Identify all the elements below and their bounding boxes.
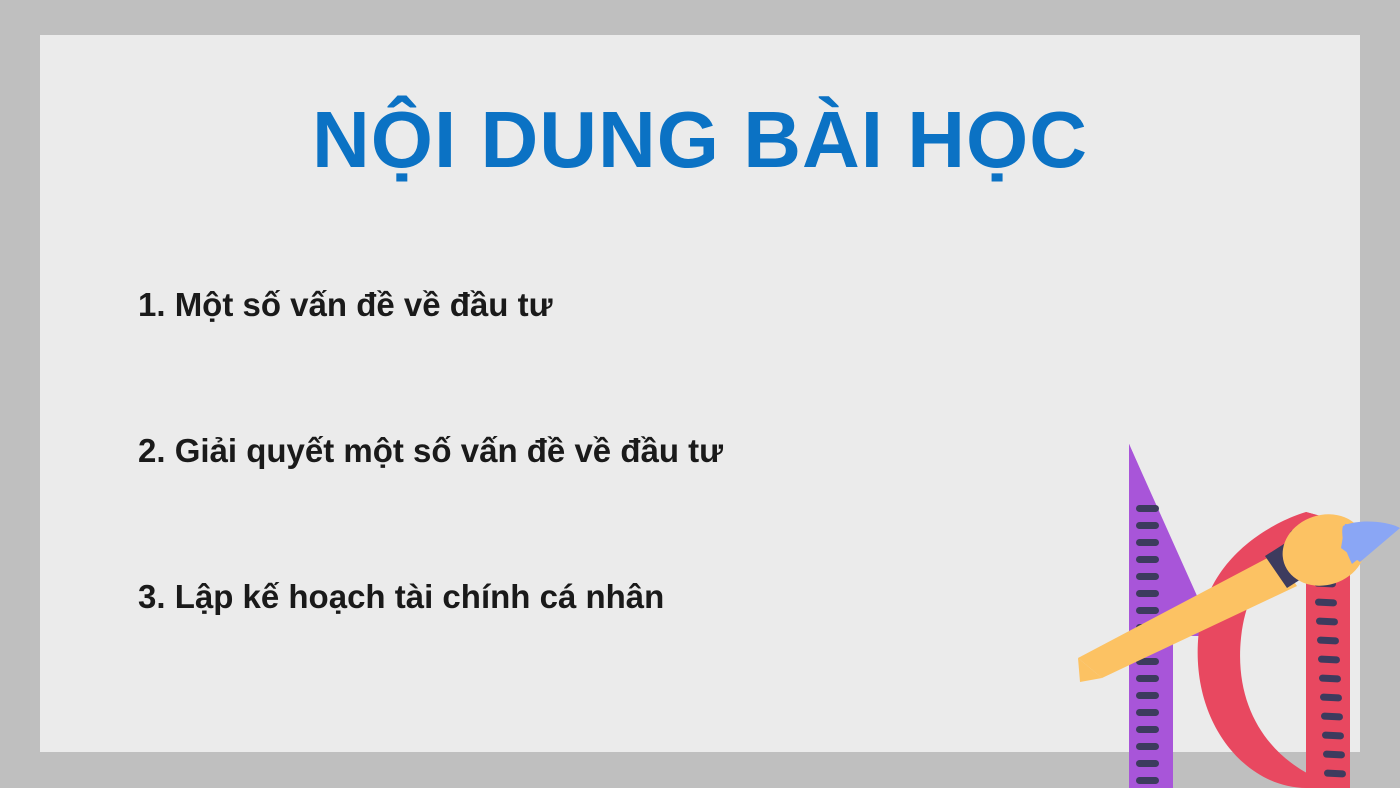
page-title: NỘI DUNG BÀI HỌC <box>40 100 1360 180</box>
slide-root: NỘI DUNG BÀI HỌC 1. Một số vấn đề về đầu… <box>0 0 1400 788</box>
list-item: 1. Một số vấn đề về đầu tư <box>138 286 1038 324</box>
lesson-content-list: 1. Một số vấn đề về đầu tư 2. Giải quyết… <box>138 286 1038 616</box>
list-item: 3. Lập kế hoạch tài chính cá nhân <box>138 578 1038 616</box>
list-item: 2. Giải quyết một số vấn đề về đầu tư <box>138 432 1038 470</box>
